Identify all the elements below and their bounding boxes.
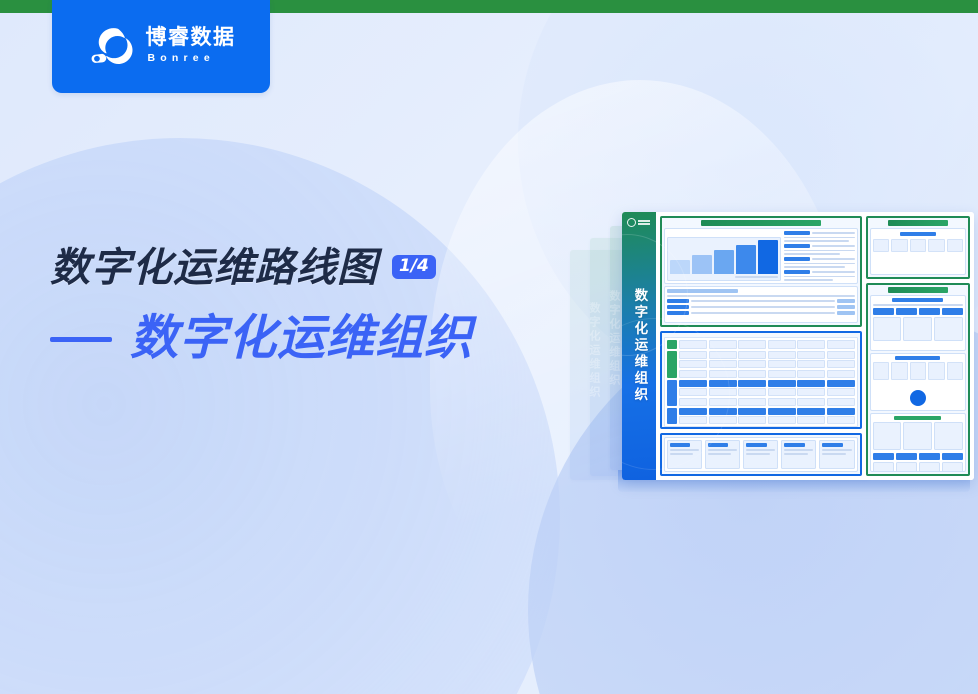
poster-front[interactable]: 数字化运维组织: [622, 212, 974, 480]
poster-column-right: [866, 216, 970, 476]
bonree-mini-logo-icon: [627, 218, 651, 227]
page-subtitle: 数字化运维组织: [130, 312, 473, 366]
headline-block: 数字化运维路线图 1/4 数字化运维组织: [50, 245, 610, 366]
bonree-swirl-icon: [87, 22, 137, 72]
poster-sidebar: 数字化运维组织: [622, 212, 656, 480]
section-5-top: [870, 295, 966, 351]
bar-chart: [670, 240, 778, 274]
hub-diagram: [873, 383, 963, 412]
title-row: 数字化运维路线图 1/4: [50, 245, 610, 292]
section-header-bar: [701, 220, 821, 226]
section-1-inner-2: [664, 286, 858, 323]
section-5-bottom: [870, 413, 966, 472]
brand-wordmark: 博睿数据 Bonree: [146, 26, 236, 67]
brand-name-cn: 博睿数据: [146, 26, 236, 49]
brand-logo-card[interactable]: 博睿数据 Bonree: [52, 0, 270, 93]
section-1-inner: [664, 228, 858, 284]
slide-canvas: 博睿数据 Bonree 数字化运维路线图 1/4 数字化运维组织 数字化运维组织…: [0, 0, 978, 694]
section-header-bar: [888, 287, 948, 293]
section-5-mid: [870, 353, 966, 412]
page-title: 数字化运维路线图: [50, 245, 378, 292]
page-number-badge: 1/4: [392, 255, 436, 279]
section-4-inner: [870, 228, 966, 275]
poster-section-1: [660, 216, 862, 327]
brand-name-en: Bonree: [146, 51, 236, 67]
poster-stack[interactable]: 数字化运维组织 数字化运维组织 数字化运维组织 数字化运维组织: [560, 198, 978, 498]
dash-rule: [50, 337, 112, 342]
poster-section-5: [866, 283, 970, 476]
section-header-bar: [888, 220, 948, 226]
poster-sidebar-title: 数字化运维组织: [632, 288, 647, 404]
poster-section-4: [866, 216, 970, 279]
subtitle-row: 数字化运维组织: [50, 312, 610, 366]
